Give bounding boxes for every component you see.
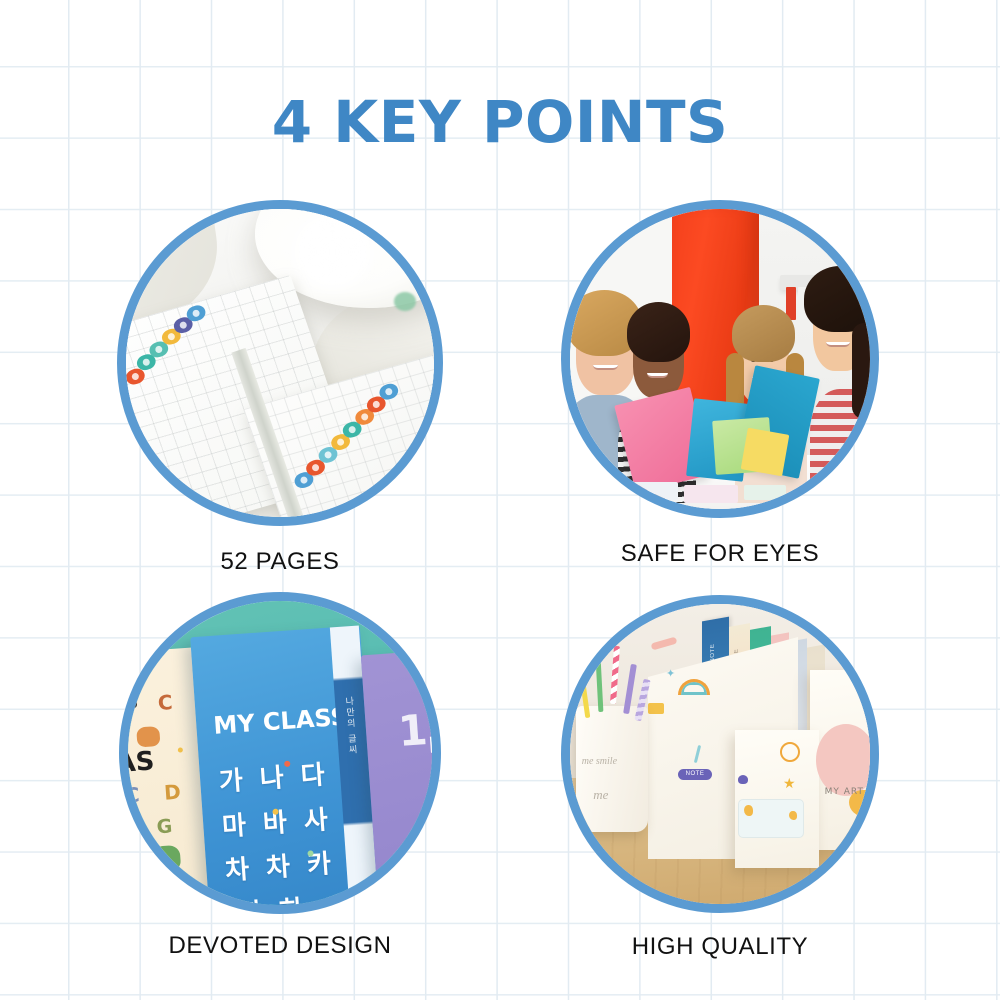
circle-frame-design: A B C CLAS C D D E G: [119, 592, 441, 914]
clock-sticker: [780, 742, 800, 762]
heart-sticker: [738, 775, 748, 784]
circle-frame-pages: [117, 200, 443, 526]
key-point-item-quality[interactable]: MY DREAM NOTE MY DREAM NOTE MY DREAM NOT…: [550, 595, 890, 961]
pencil-cup: me smile me: [576, 706, 648, 832]
photo-students: [570, 209, 870, 509]
star-sticker: ★: [783, 775, 796, 792]
circle-frame-eyes: [561, 200, 879, 518]
infographic-page: 4 KEY POINTS: [0, 0, 1000, 1000]
hangul-line-1: 가 나 다: [218, 755, 330, 800]
note-tag: NOTE: [678, 769, 712, 780]
hangul-line-4: 파 하: [237, 889, 308, 905]
circle-frame-quality: MY DREAM NOTE MY DREAM NOTE MY DREAM NOT…: [561, 595, 879, 913]
cover-title-my-c: MY C: [428, 730, 432, 759]
photo-workbook-pages: [126, 209, 434, 517]
photo-notebook-covers: A B C CLAS C D D E G: [128, 601, 432, 905]
hangul-line-3: 차 차 카: [224, 843, 336, 888]
cup-text-line-2: me: [593, 787, 608, 803]
caption-quality: HIGH QUALITY: [550, 933, 890, 961]
caption-pages: 52 PAGES: [110, 548, 450, 576]
cup-text-line-1: me smile: [582, 756, 617, 767]
photo-desk-organizer: MY DREAM NOTE MY DREAM NOTE MY DREAM NOT…: [570, 604, 870, 904]
key-point-item-pages[interactable]: 52 PAGES: [110, 200, 450, 576]
my-art-label: MY ART: [825, 787, 864, 797]
key-point-item-design[interactable]: A B C CLAS C D D E G: [110, 592, 450, 960]
hangul-line-2: 마 바 사: [221, 799, 333, 844]
caption-design: DEVOTED DESIGN: [110, 932, 450, 960]
cover-my-class: MY CLASS 가 나 다 마 바 사 차 차 카 파 하 나만의 글씨: [190, 626, 382, 905]
key-point-item-eyes[interactable]: SAFE FOR EYES: [550, 200, 890, 568]
key-points-grid: 52 PAGES: [0, 0, 1000, 1000]
caption-eyes: SAFE FOR EYES: [550, 540, 890, 568]
cover-title-my-class: MY CLASS: [212, 703, 348, 740]
